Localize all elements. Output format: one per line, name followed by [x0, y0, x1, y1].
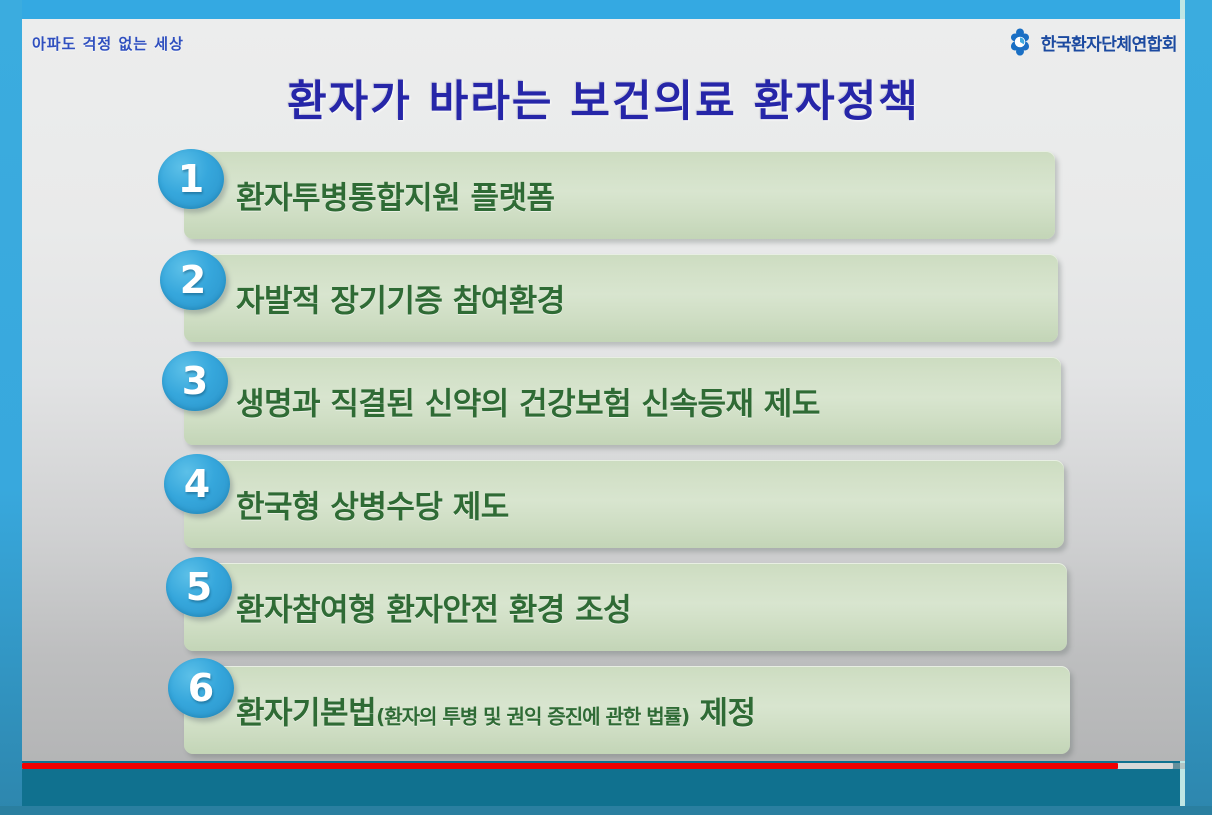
player-frame-top — [0, 0, 1212, 19]
policy-text: 자발적 장기기증 참여환경 — [236, 284, 565, 320]
policy-number-badge: 4 — [164, 454, 230, 514]
list-item: 환자기본법(환자의 투병 및 권익 증진에 관한 법률) 제정 6 — [22, 658, 1185, 761]
policy-number-badge: 3 — [162, 351, 228, 411]
slide-header: 아파도 걱정 없는 세상 한국환자단체연합회 — [22, 19, 1185, 53]
policy-number: 3 — [182, 362, 208, 400]
policy-number: 2 — [180, 261, 206, 299]
player-frame-left — [0, 0, 22, 815]
policy-text: 환자투병통합지원 플랫폼 — [236, 181, 555, 217]
policy-number: 4 — [184, 465, 210, 503]
policy-box: 환자기본법(환자의 투병 및 권익 증진에 관한 법률) 제정 — [184, 666, 1070, 754]
organization-logo: 한국환자단체연합회 — [1005, 27, 1177, 57]
policy-list: 환자투병통합지원 플랫폼 1 자발적 장기기증 참여환경 2 생명과 직결된 신… — [22, 143, 1185, 761]
policy-number-badge: 2 — [160, 250, 226, 310]
presentation-slide: 아파도 걱정 없는 세상 한국환자단체연합회 환자가 바라는 보건의료 환자정책… — [22, 19, 1185, 761]
video-player-viewport: 아파도 걱정 없는 세상 한국환자단체연합회 환자가 바라는 보건의료 환자정책… — [0, 0, 1212, 815]
flower-logo-icon — [1005, 27, 1035, 57]
policy-text: 환자기본법 — [236, 696, 376, 732]
policy-label: 한국형 상병수당 제도 — [236, 482, 509, 527]
player-frame-bottom — [0, 806, 1212, 815]
list-item: 환자참여형 환자안전 환경 조성 5 — [22, 555, 1185, 658]
policy-number-badge: 1 — [158, 149, 224, 209]
policy-label: 환자기본법(환자의 투병 및 권익 증진에 관한 법률) 제정 — [236, 688, 756, 733]
progress-played — [22, 763, 1118, 769]
policy-box: 자발적 장기기증 참여환경 — [184, 254, 1058, 342]
policy-text-tail: 제정 — [689, 696, 755, 732]
policy-label: 환자참여형 환자안전 환경 조성 — [236, 585, 631, 630]
policy-number: 6 — [188, 669, 214, 707]
policy-number-badge: 5 — [166, 557, 232, 617]
policy-box: 환자투병통합지원 플랫폼 — [184, 151, 1055, 239]
slide-tagline: 아파도 걱정 없는 세상 — [32, 33, 184, 54]
policy-text: 환자참여형 환자안전 환경 조성 — [236, 593, 631, 629]
list-item: 환자투병통합지원 플랫폼 1 — [22, 143, 1185, 246]
policy-number: 1 — [178, 160, 204, 198]
list-item: 생명과 직결된 신약의 건강보험 신속등재 제도 3 — [22, 349, 1185, 452]
policy-box: 생명과 직결된 신약의 건강보험 신속등재 제도 — [184, 357, 1061, 445]
policy-number-badge: 6 — [168, 658, 234, 718]
list-item: 자발적 장기기증 참여환경 2 — [22, 246, 1185, 349]
player-frame-right — [1185, 0, 1212, 815]
policy-number: 5 — [186, 568, 212, 606]
organization-name: 한국환자단체연합회 — [1041, 30, 1177, 55]
video-progress-bar[interactable] — [22, 763, 1185, 769]
policy-label: 생명과 직결된 신약의 건강보험 신속등재 제도 — [236, 379, 820, 424]
policy-box: 한국형 상병수당 제도 — [184, 460, 1064, 548]
policy-box: 환자참여형 환자안전 환경 조성 — [184, 563, 1067, 651]
policy-label: 환자투병통합지원 플랫폼 — [236, 173, 555, 218]
policy-text: 한국형 상병수당 제도 — [236, 490, 509, 526]
policy-label: 자발적 장기기증 참여환경 — [236, 276, 565, 321]
policy-subtext: (환자의 투병 및 권익 증진에 관한 법률) — [376, 705, 689, 729]
policy-text: 생명과 직결된 신약의 건강보험 신속등재 제도 — [236, 387, 820, 423]
list-item: 한국형 상병수당 제도 4 — [22, 452, 1185, 555]
slide-title: 환자가 바라는 보건의료 환자정책 — [22, 67, 1185, 129]
